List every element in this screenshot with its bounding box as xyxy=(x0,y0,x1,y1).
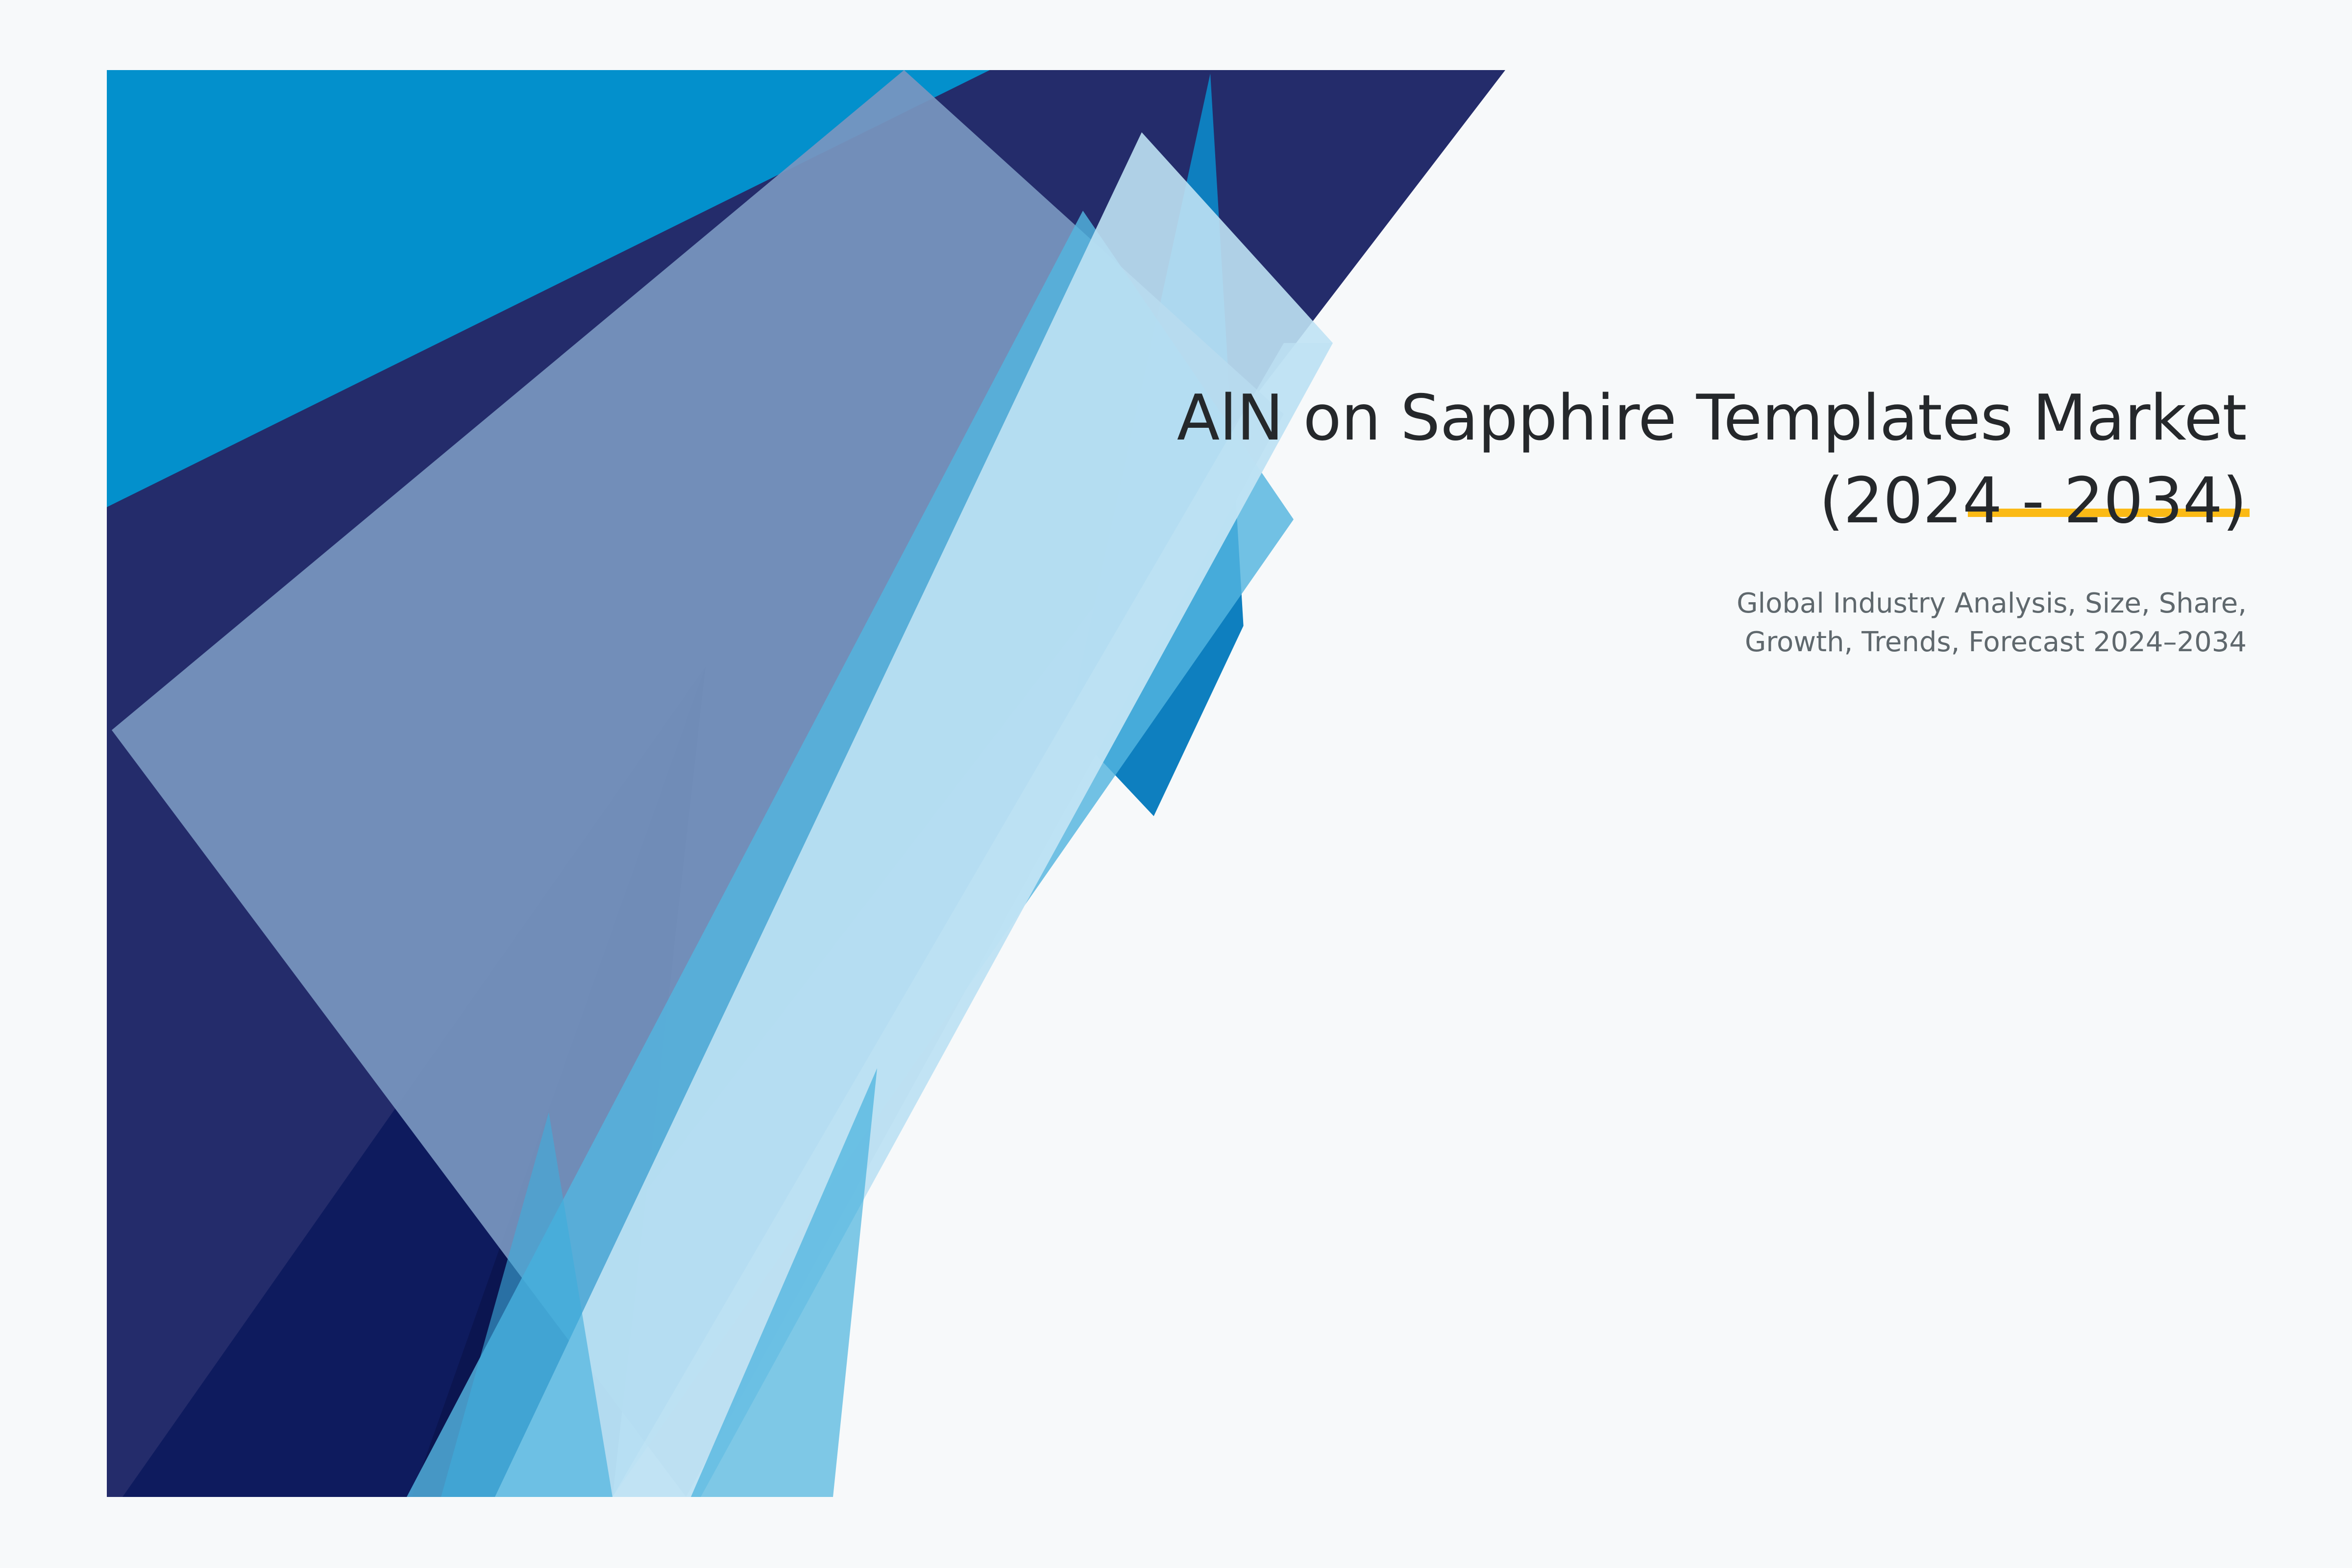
title-line-2: (2024 - 2034) xyxy=(894,460,2247,543)
subtitle-line-1: Global Industry Analysis, Size, Share, xyxy=(894,584,2247,623)
cover-page: AlN on Sapphire Templates Market (2024 -… xyxy=(0,0,2352,1568)
cover-text-block: AlN on Sapphire Templates Market (2024 -… xyxy=(894,377,2247,662)
page-subtitle: Global Industry Analysis, Size, Share, G… xyxy=(894,584,2247,662)
page-title: AlN on Sapphire Templates Market (2024 -… xyxy=(894,377,2247,543)
title-line-1: AlN on Sapphire Templates Market xyxy=(894,377,2247,460)
abstract-geometric-artwork xyxy=(0,0,2352,1568)
subtitle-line-2: Growth, Trends, Forecast 2024–2034 xyxy=(894,623,2247,662)
